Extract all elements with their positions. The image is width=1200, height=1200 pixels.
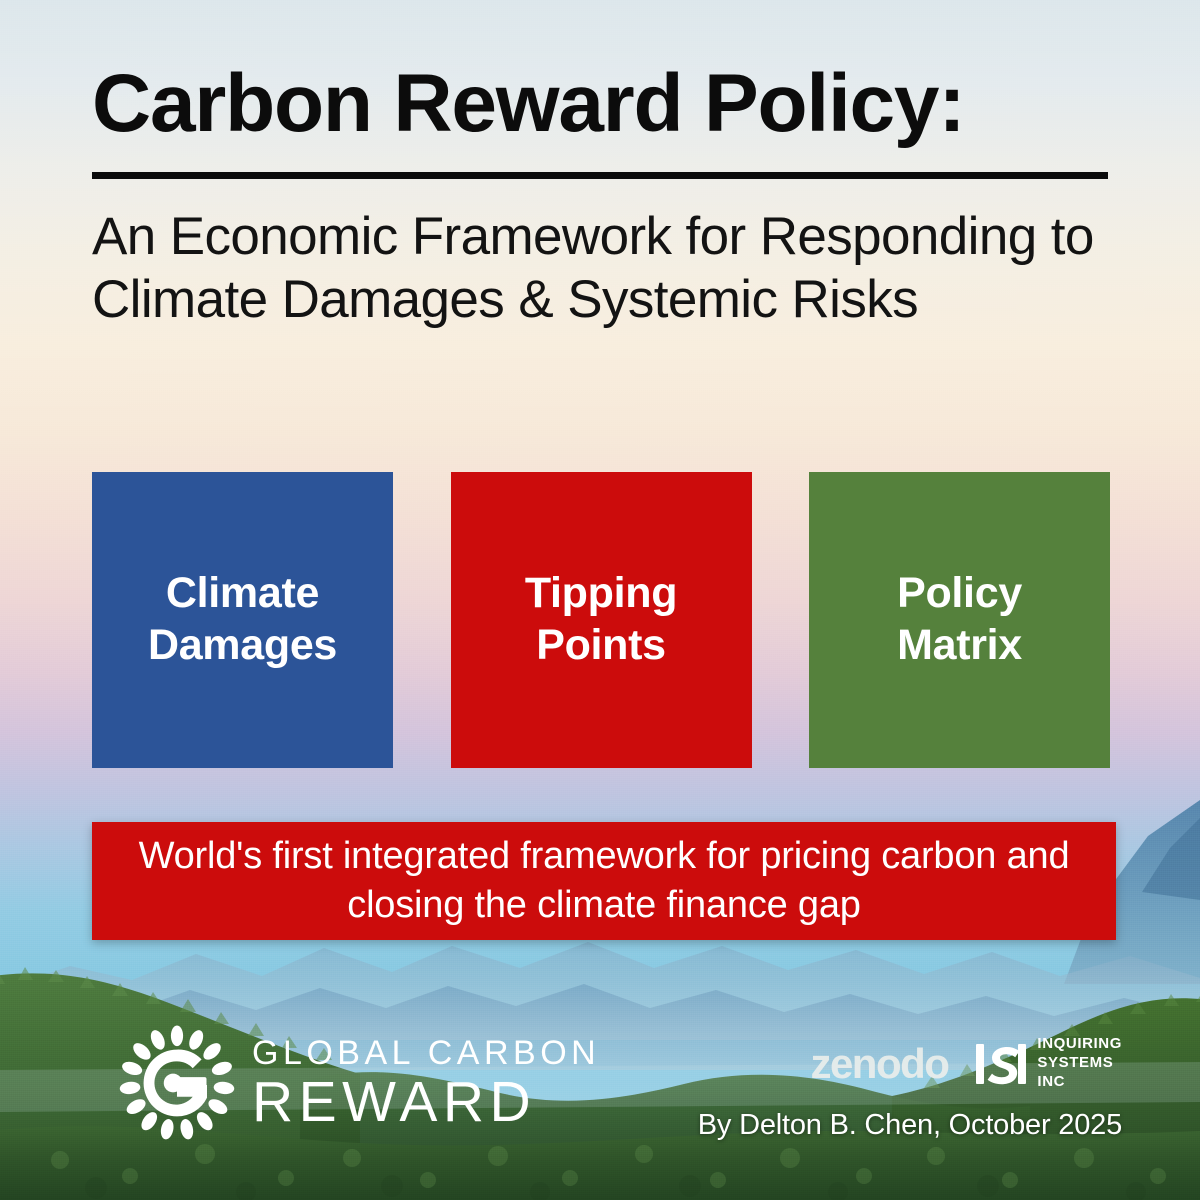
pillar-label-line2: Damages bbox=[148, 621, 337, 669]
logo-wordmark: GLOBAL CARBON REWARD bbox=[252, 1036, 600, 1131]
pillar-card-group: Climate Damages Tipping Points Policy Ma… bbox=[92, 472, 1110, 768]
poster-canvas: Carbon Reward Policy: An Economic Framew… bbox=[0, 0, 1200, 1200]
zenodo-logo[interactable]: zenodo bbox=[810, 1040, 948, 1088]
isi-monogram-icon bbox=[974, 1040, 1028, 1088]
pillar-label-line2: Points bbox=[536, 621, 666, 669]
pillar-card-policy-matrix[interactable]: Policy Matrix bbox=[809, 472, 1110, 768]
isi-wordmark-line2: SYSTEMS bbox=[1037, 1054, 1122, 1073]
logo-wordmark-top: GLOBAL CARBON bbox=[252, 1036, 600, 1070]
isi-wordmark-line3: INC bbox=[1037, 1073, 1122, 1092]
footer-block: GLOBAL CARBON REWARD zenodo bbox=[0, 970, 1200, 1200]
header-block: Carbon Reward Policy: An Economic Framew… bbox=[92, 62, 1110, 332]
page-title: Carbon Reward Policy: bbox=[92, 62, 1110, 146]
logo-wordmark-bottom: REWARD bbox=[252, 1074, 600, 1131]
pillar-label-line1: Climate bbox=[166, 569, 319, 617]
partner-logo-group: zenodo INQUIRING SYSTEMS INC bbox=[810, 1035, 1122, 1092]
title-divider-rule bbox=[92, 172, 1108, 179]
sun-leaf-g-icon bbox=[118, 1024, 236, 1142]
tagline-banner: World's first integrated framework for p… bbox=[92, 822, 1116, 940]
author-byline: By Delton B. Chen, October 2025 bbox=[698, 1109, 1122, 1142]
pillar-label-line2: Matrix bbox=[897, 621, 1022, 669]
isi-wordmark-line1: INQUIRING bbox=[1037, 1035, 1122, 1054]
page-subtitle: An Economic Framework for Responding to … bbox=[92, 205, 1102, 332]
inquiring-systems-logo[interactable]: INQUIRING SYSTEMS INC bbox=[974, 1035, 1122, 1092]
pillar-card-tipping-points[interactable]: Tipping Points bbox=[451, 472, 752, 768]
pillar-label-line1: Policy bbox=[897, 569, 1022, 617]
pillar-label-line1: Tipping bbox=[525, 569, 677, 617]
global-carbon-reward-logo[interactable]: GLOBAL CARBON REWARD bbox=[118, 1024, 600, 1142]
pillar-card-climate-damages[interactable]: Climate Damages bbox=[92, 472, 393, 768]
isi-wordmark: INQUIRING SYSTEMS INC bbox=[1037, 1035, 1122, 1092]
